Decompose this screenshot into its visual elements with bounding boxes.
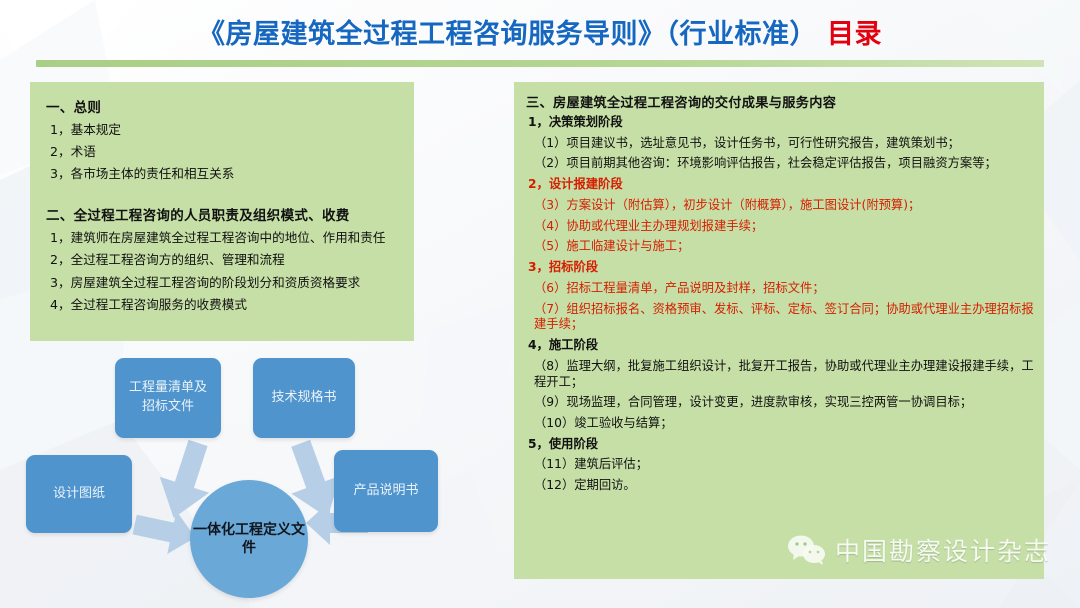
list-item: 1，建筑师在房屋建筑全过程工程咨询中的地位、作用和责任 xyxy=(50,230,400,246)
stage-label: 1，决策策划阶段 xyxy=(528,115,1034,131)
diagram-box-label: 产品说明书 xyxy=(353,482,418,501)
diagram-box-drawing[interactable]: 设计图纸 xyxy=(26,455,132,533)
stage-item: （8）监理大纲，批复施工组织设计，批复开工报告，协助或代理业主办理建设报建手续，… xyxy=(534,359,1034,390)
integration-diagram: 工程量清单及招标文件 技术规格书 设计图纸 产品说明书 一体化工程定义文件 xyxy=(20,345,490,608)
section-heading-1: 一、总则 xyxy=(46,96,400,116)
panel-right-toc: 三、房屋建筑全过程工程咨询的交付成果与服务内容 1，决策策划阶段 （1）项目建议… xyxy=(514,82,1044,579)
stage-item: （1）项目建议书，选址意见书，设计任务书，可行性研究报告，建筑策划书； xyxy=(534,136,1034,152)
diagram-center-label: 一体化工程定义文件 xyxy=(190,521,308,558)
stage-label: 2，设计报建阶段 xyxy=(528,177,1034,193)
diagram-box-label: 技术规格书 xyxy=(271,389,336,408)
stage-label: 3，招标阶段 xyxy=(528,260,1034,276)
wechat-icon xyxy=(786,534,826,566)
stage-item: （3）方案设计（附估算），初步设计（附概算），施工图设计(附预算)； xyxy=(534,198,1034,214)
watermark: 中国勘察设计杂志 xyxy=(786,532,1051,568)
stage-item: （7）组织招标报名、资格预审、发标、评标、定标、签订合同；协助或代理业主办理招标… xyxy=(534,302,1034,333)
diagram-box-product[interactable]: 产品说明书 xyxy=(334,450,438,532)
stage-item: （6）招标工程量清单，产品说明及封样，招标文件； xyxy=(534,281,1034,297)
page-title: 《房屋建筑全过程工程咨询服务导则》（行业标准） 目录 xyxy=(0,12,1080,51)
page-title-accent: 目录 xyxy=(827,19,882,50)
list-item: 3，各市场主体的责任和相互关系 xyxy=(50,166,400,182)
stage-item: （11）建筑后评估； xyxy=(534,457,1034,473)
list-item: 3，房屋建筑全过程工程咨询的阶段划分和资质资格要求 xyxy=(50,275,400,291)
stage-item: （9）现场监理，合同管理，设计变更，进度款审核，实现三控两管一协调目标； xyxy=(534,395,1034,411)
list-item: 2，全过程工程咨询方的组织、管理和流程 xyxy=(50,252,400,268)
stage-label: 5，使用阶段 xyxy=(528,437,1034,453)
slide-canvas: 《房屋建筑全过程工程咨询服务导则》（行业标准） 目录 一、总则 1，基本规定 2… xyxy=(0,0,1080,608)
title-divider xyxy=(36,60,1044,67)
section-heading-2: 二、全过程工程咨询的人员职责及组织模式、收费 xyxy=(46,204,400,224)
section-spacer xyxy=(44,188,400,200)
stage-item: （2）项目前期其他咨询：环境影响评估报告，社会稳定评估报告，项目融资方案等； xyxy=(534,156,1034,172)
section-heading-3: 三、房屋建筑全过程工程咨询的交付成果与服务内容 xyxy=(526,92,1034,111)
stage-item: （12）定期回访。 xyxy=(534,478,1034,494)
list-item: 4，全过程工程咨询服务的收费模式 xyxy=(50,297,400,313)
stage-item: （4）协助或代理业主办理规划报建手续； xyxy=(534,219,1034,235)
list-item: 1，基本规定 xyxy=(50,122,400,138)
diagram-box-spec[interactable]: 技术规格书 xyxy=(253,358,355,438)
stage-label: 4，施工阶段 xyxy=(528,338,1034,354)
list-item: 2，术语 xyxy=(50,144,400,160)
diagram-center-node[interactable]: 一体化工程定义文件 xyxy=(190,480,308,598)
stage-item: （5）施工临建设计与施工； xyxy=(534,239,1034,255)
watermark-text: 中国勘察设计杂志 xyxy=(835,532,1051,568)
diagram-box-label: 设计图纸 xyxy=(53,485,105,504)
page-title-main: 《房屋建筑全过程工程咨询服务导则》（行业标准） xyxy=(198,19,817,50)
diagram-box-label: 工程量清单及招标文件 xyxy=(123,379,213,417)
panel-left-toc: 一、总则 1，基本规定 2，术语 3，各市场主体的责任和相互关系 二、全过程工程… xyxy=(30,82,414,341)
diagram-box-boq[interactable]: 工程量清单及招标文件 xyxy=(115,358,221,438)
stage-item: （10）竣工验收与结算； xyxy=(534,416,1034,432)
